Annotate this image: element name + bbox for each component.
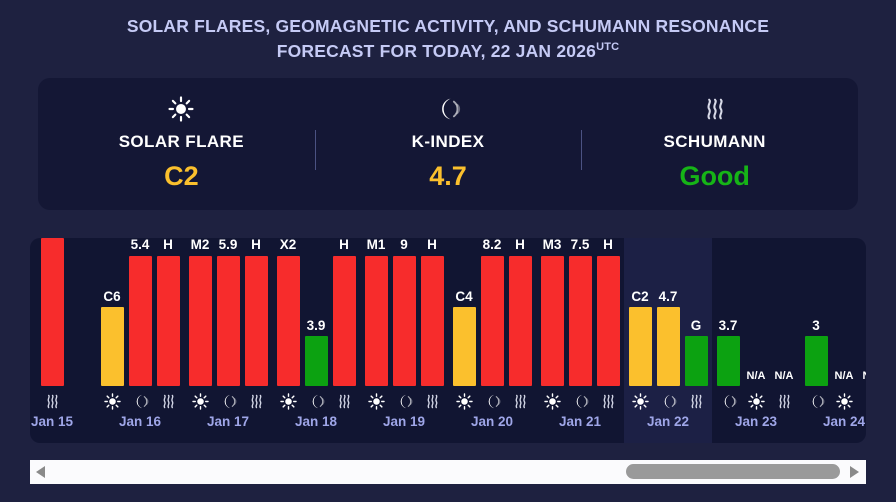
summary-column-k-index: K-INDEX4.7	[315, 94, 582, 192]
scrollbar-thumb[interactable]	[626, 464, 840, 479]
chart-day-column[interactable]: M37.5HJan 21	[536, 238, 624, 443]
chart-bar[interactable]: C6	[101, 238, 124, 386]
chart-bar-group: M19H	[360, 238, 448, 386]
chart-bar-value-label: N/A	[863, 371, 866, 382]
chart-bar[interactable]: 4.7	[657, 238, 680, 386]
chart-bar-value-label: N/A	[747, 371, 766, 382]
chart-bar-value-label: 8.2	[483, 238, 502, 252]
chart-bar[interactable]: H	[509, 238, 532, 386]
waves-icon	[245, 393, 268, 410]
chart-icon-row	[712, 388, 800, 414]
chart-bar-value-label: C2	[631, 290, 648, 304]
chart-bar[interactable]: H	[245, 238, 268, 386]
chart-bar-rect	[569, 256, 592, 387]
summary-value: C2	[54, 161, 309, 192]
chart-bar[interactable]: M3	[541, 238, 564, 386]
summary-column-schumann: SCHUMANNGood	[581, 94, 848, 192]
waves-icon	[333, 393, 356, 410]
chart-day-column[interactable]: Jan 15	[30, 238, 96, 443]
chart-bar-rect	[365, 256, 388, 387]
moon-icon	[321, 94, 576, 124]
sun-icon	[189, 393, 212, 410]
sun-icon	[833, 393, 856, 410]
chart-bar-rect	[421, 256, 444, 387]
chart-bar-value-label: 3.7	[719, 319, 738, 333]
chart-bar-rect	[805, 336, 828, 386]
scrollbar-track[interactable]	[52, 460, 844, 484]
chart-bar-value-label: 7.5	[571, 238, 590, 252]
moon-icon	[657, 393, 680, 410]
waves-icon	[421, 393, 444, 410]
chart-bar-group: M37.5H	[536, 238, 624, 386]
chart-icon-row	[184, 388, 272, 414]
chart-bar-value-label: 3	[812, 319, 820, 333]
sun-icon	[277, 393, 300, 410]
chart-day-label: Jan 17	[184, 414, 272, 429]
chart-bar-value-label: H	[163, 238, 173, 252]
chart-bar-value-label: C4	[455, 290, 472, 304]
sun-icon	[453, 393, 476, 410]
summary-value: 4.7	[321, 161, 576, 192]
chart-icon-row	[624, 388, 712, 414]
waves-icon	[157, 393, 180, 410]
waves-icon	[41, 393, 64, 410]
chart-bar-rect	[305, 336, 328, 386]
waves-icon	[773, 393, 796, 410]
chart-bar[interactable]: 8.2	[481, 238, 504, 386]
chart-bar-value-label: N/A	[835, 371, 854, 382]
chart-icon-row	[536, 388, 624, 414]
chart-bar[interactable]: N/A	[833, 238, 856, 386]
sun-icon	[54, 94, 309, 124]
chart-icon-row	[30, 388, 96, 414]
chart-icon-row	[800, 388, 866, 414]
chart-bar-value-label: 5.9	[219, 238, 238, 252]
chart-icon-row	[360, 388, 448, 414]
chart-bar[interactable]	[41, 238, 64, 386]
chart-bar-rect	[41, 238, 64, 386]
page-title-utc: UTC	[596, 41, 619, 53]
chart-bar-value-label: 5.4	[131, 238, 150, 252]
chart-icon-row	[448, 388, 536, 414]
chart-bar[interactable]: H	[597, 238, 620, 386]
chart-bar-rect	[657, 307, 680, 386]
page-header: SOLAR FLARES, GEOMAGNETIC ACTIVITY, AND …	[0, 0, 896, 74]
chart-bar[interactable]: C4	[453, 238, 476, 386]
chart-bar-value-label: G	[691, 319, 702, 333]
chart-bar-value-label: H	[427, 238, 437, 252]
forecast-chart: Jan 15C65.4HJan 16M25.9HJan 17X23.9HJan …	[0, 238, 896, 502]
page-title-line1: SOLAR FLARES, GEOMAGNETIC ACTIVITY, AND …	[127, 16, 769, 36]
chart-scroll-viewport[interactable]: Jan 15C65.4HJan 16M25.9HJan 17X23.9HJan …	[30, 238, 866, 443]
moon-icon	[305, 393, 328, 410]
chart-day-column[interactable]: 3.7N/AN/AJan 23	[712, 238, 800, 443]
chart-icon-row	[272, 388, 360, 414]
moon-icon	[129, 393, 152, 410]
chart-bar-value-label: N/A	[775, 371, 794, 382]
chart-bar-value-label: M3	[543, 238, 562, 252]
chart-bar[interactable]: N/A	[745, 238, 768, 386]
chart-bar-value-label: H	[339, 238, 349, 252]
chart-bar-rect	[129, 256, 152, 387]
summary-label: K-INDEX	[321, 132, 576, 152]
chart-bar[interactable]: 7.5	[569, 238, 592, 386]
chart-bar-group: C24.7G	[624, 238, 712, 386]
scroll-left-arrow[interactable]	[30, 460, 52, 484]
summary-card: SOLAR FLAREC2K-INDEX4.7SCHUMANNGood	[38, 78, 858, 210]
chart-bar-rect	[453, 307, 476, 386]
chart-bar-rect	[629, 307, 652, 386]
chart-bar-rect	[541, 256, 564, 387]
waves-icon	[509, 393, 532, 410]
waves-icon	[685, 393, 708, 410]
page-title-line2: FORECAST FOR TODAY, 22 JAN 2026	[277, 41, 596, 61]
chart-day-label: Jan 22	[624, 414, 712, 429]
sun-icon	[745, 393, 768, 410]
sun-icon	[365, 393, 388, 410]
chart-bar-rect	[189, 256, 212, 387]
moon-icon	[805, 393, 828, 410]
chart-day-column[interactable]: C24.7GJan 22	[624, 238, 712, 443]
sun-icon	[101, 393, 124, 410]
chart-day-label: Jan 18	[272, 414, 360, 429]
waves-icon	[861, 393, 867, 410]
chart-bar-value-label: 9	[400, 238, 408, 252]
chart-bar-group: 3.7N/AN/A	[712, 238, 800, 386]
waves-icon	[597, 393, 620, 410]
chart-day-label: Jan 21	[536, 414, 624, 429]
chart-bar[interactable]: M1	[365, 238, 388, 386]
chart-bar-rect	[217, 256, 240, 387]
chart-bar[interactable]: 3.9	[305, 238, 328, 386]
chart-day-column[interactable]: 3N/AN/AJan 24	[800, 238, 866, 443]
moon-icon	[393, 393, 416, 410]
chart-bar-group: C48.2H	[448, 238, 536, 386]
chart-bar-value-label: H	[251, 238, 261, 252]
chart-day-label: Jan 19	[360, 414, 448, 429]
chart-day-column[interactable]: M25.9HJan 17	[184, 238, 272, 443]
chart-bar[interactable]: H	[157, 238, 180, 386]
sun-icon	[541, 393, 564, 410]
chart-bar-rect	[245, 256, 268, 387]
chart-bar-rect	[157, 256, 180, 387]
chart-bar-value-label: 4.7	[659, 290, 678, 304]
chart-bar[interactable]: 9	[393, 238, 416, 386]
scroll-right-arrow[interactable]	[844, 460, 866, 484]
chart-bar[interactable]: X2	[277, 238, 300, 386]
chart-bar-rect	[333, 256, 356, 387]
chart-day-column[interactable]: C65.4HJan 16	[96, 238, 184, 443]
chart-day-column[interactable]: C48.2HJan 20	[448, 238, 536, 443]
chart-bar-group	[30, 238, 96, 386]
chart-icon-row	[96, 388, 184, 414]
chart-day-column[interactable]: M19HJan 19	[360, 238, 448, 443]
chart-bar[interactable]: 3	[805, 238, 828, 386]
chart-bar-value-label: C6	[103, 290, 120, 304]
chart-bar-group: 3N/AN/A	[800, 238, 866, 386]
moon-icon	[481, 393, 504, 410]
chart-bar[interactable]: N/A	[773, 238, 796, 386]
chart-bar-value-label: M2	[191, 238, 210, 252]
chart-bar-rect	[101, 307, 124, 386]
chart-bar-group: C65.4H	[96, 238, 184, 386]
chart-bar[interactable]: H	[421, 238, 444, 386]
chart-bar-value-label: H	[515, 238, 525, 252]
chart-bar-rect	[277, 256, 300, 387]
chart-bar-rect	[685, 336, 708, 386]
summary-value: Good	[587, 161, 842, 192]
chart-bar[interactable]: N/A	[861, 238, 867, 386]
chart-bar-rect	[481, 256, 504, 387]
chart-bar-value-label: X2	[280, 238, 297, 252]
moon-icon	[717, 393, 740, 410]
chart-bar-value-label: M1	[367, 238, 386, 252]
chart-bar[interactable]: 5.9	[217, 238, 240, 386]
chart-day-label: Jan 20	[448, 414, 536, 429]
waves-icon	[587, 94, 842, 124]
chart-day-label: Jan 24	[800, 414, 866, 429]
summary-label: SOLAR FLARE	[54, 132, 309, 152]
sun-icon	[629, 393, 652, 410]
chart-day-column[interactable]: X23.9HJan 18	[272, 238, 360, 443]
chart-bar-group: X23.9H	[272, 238, 360, 386]
chart-bar-value-label: H	[603, 238, 613, 252]
chart-bar[interactable]: M2	[189, 238, 212, 386]
chart-bar-rect	[509, 256, 532, 387]
moon-icon	[569, 393, 592, 410]
chart-day-label: Jan 15	[30, 414, 96, 429]
chart-bar[interactable]: 3.7	[717, 238, 740, 386]
chart-bar[interactable]: H	[333, 238, 356, 386]
chart-bar-value-label: 3.9	[307, 319, 326, 333]
chart-bar[interactable]: 5.4	[129, 238, 152, 386]
chart-day-label: Jan 23	[712, 414, 800, 429]
chart-bar-rect	[393, 256, 416, 387]
chart-bar-group: M25.9H	[184, 238, 272, 386]
chart-bar-rect	[597, 256, 620, 387]
chart-day-label: Jan 16	[96, 414, 184, 429]
page-title: SOLAR FLARES, GEOMAGNETIC ACTIVITY, AND …	[20, 14, 876, 64]
summary-column-solar-flare: SOLAR FLAREC2	[48, 94, 315, 192]
chart-track: Jan 15C65.4HJan 16M25.9HJan 17X23.9HJan …	[30, 238, 866, 443]
moon-icon	[217, 393, 240, 410]
summary-label: SCHUMANN	[587, 132, 842, 152]
chart-bar-rect	[717, 336, 740, 386]
horizontal-scrollbar[interactable]	[30, 460, 866, 484]
chart-bar[interactable]: G	[685, 238, 708, 386]
chart-bar[interactable]: C2	[629, 238, 652, 386]
